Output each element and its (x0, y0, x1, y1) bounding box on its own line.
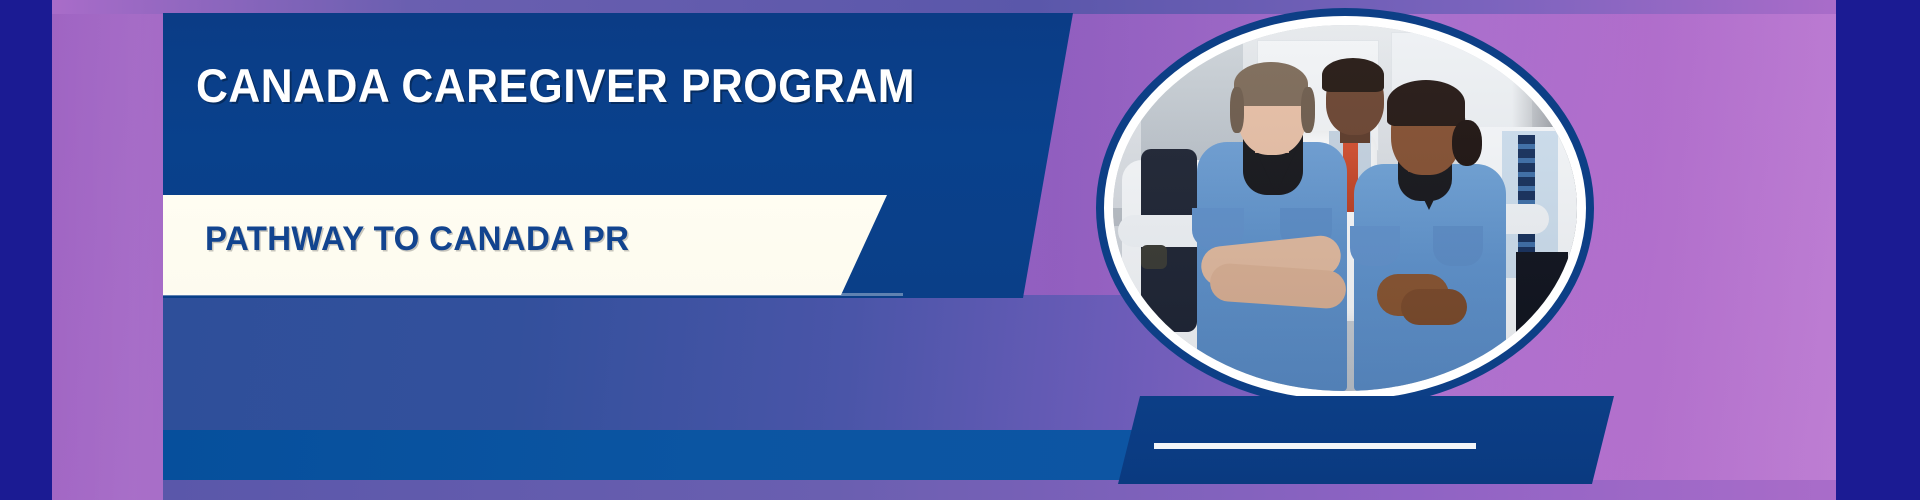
hero-photo (1113, 25, 1577, 391)
photo-shading (1113, 25, 1577, 391)
page-title: CANADA CAREGIVER PROGRAM (196, 58, 915, 113)
left-edge-strip (0, 0, 52, 500)
bottom-rule-line (1154, 443, 1476, 449)
hero-photo-ring-inner (1104, 16, 1586, 400)
page-subtitle: PATHWAY TO CANADA PR (205, 220, 629, 259)
top-accent-strip (52, 0, 1836, 14)
hero-photo-ring (1096, 8, 1594, 408)
clinic-scene (1113, 25, 1577, 391)
right-edge-strip (1836, 0, 1920, 500)
banner: CANADA CAREGIVER PROGRAM PATHWAY TO CANA… (0, 0, 1920, 500)
panel-divider (163, 293, 903, 296)
bottom-accent-bar (1118, 396, 1614, 484)
